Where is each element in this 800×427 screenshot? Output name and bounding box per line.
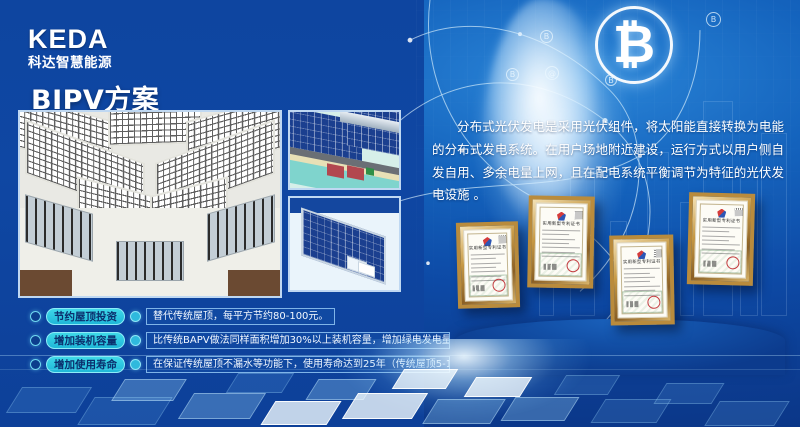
logo-subtitle: 科达智慧能源 bbox=[28, 57, 154, 71]
certificate-card: 实用新型专利证书 bbox=[527, 195, 595, 288]
certificate-title: 实用新型专利证书 bbox=[536, 220, 586, 227]
photo-mounting-detail-render bbox=[288, 110, 401, 190]
at-badge-icon: @ bbox=[545, 66, 559, 80]
photo-bipv-atrium-roof bbox=[18, 110, 282, 298]
feature-row: 节约屋顶投资 替代传统屋顶，每平方节约80-100元。 bbox=[30, 306, 450, 327]
certificate-card: 实用新型专利证书 bbox=[687, 192, 755, 286]
bitcoin-icon: ₿ bbox=[595, 6, 673, 84]
bitcoin-badge-icon: B bbox=[605, 74, 617, 86]
photo-pv-module-render bbox=[288, 196, 401, 292]
certificate-title: 实用新型专利证书 bbox=[696, 217, 746, 224]
certificate-title: 实用新型专利证书 bbox=[618, 259, 666, 266]
certificate-title: 实用新型专利证书 bbox=[464, 245, 510, 252]
bullet-dot-icon bbox=[130, 311, 141, 322]
bipv-solution-poster: ₿ B B B B @ KEDA 科达智慧能源 BIPV方案 bbox=[0, 0, 800, 427]
bullet-ring-icon bbox=[30, 311, 41, 322]
bitcoin-logo: ₿ bbox=[595, 6, 673, 84]
perspective-floor-graphic bbox=[0, 339, 800, 427]
certificate-card: 实用新型专利证书 bbox=[609, 234, 675, 325]
bitcoin-badge-icon: B bbox=[506, 68, 519, 81]
feature-description: 替代传统屋顶，每平方节约80-100元。 bbox=[146, 308, 335, 325]
bitcoin-badge-icon: B bbox=[706, 12, 721, 27]
company-logo: KEDA 科达智慧能源 bbox=[28, 26, 154, 71]
feature-tag: 节约屋顶投资 bbox=[46, 308, 125, 325]
logo-wordmark: KEDA bbox=[28, 26, 154, 53]
atrium-illustration bbox=[20, 112, 280, 296]
certificate-card: 实用新型专利证书 bbox=[456, 221, 520, 309]
bitcoin-badge-icon: B bbox=[540, 30, 553, 43]
